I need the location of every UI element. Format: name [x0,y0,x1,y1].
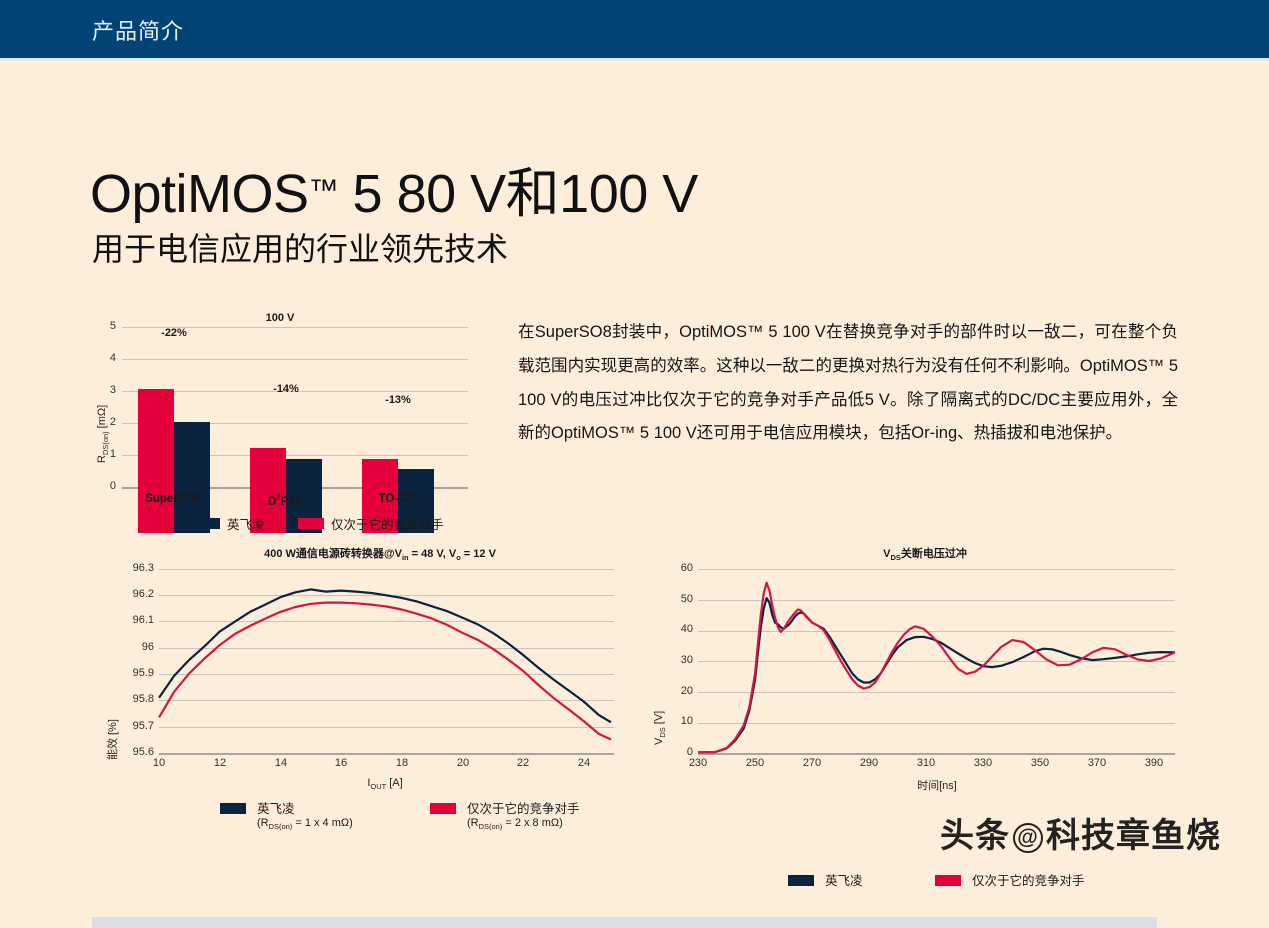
x-tick-label: 310 [906,757,946,769]
page-body: OptiMOS™ 5 80 V和100 V 用于电信应用的行业领先技术 100 … [0,61,1269,867]
bar-annotation-to220: -13% [358,394,438,406]
bar-competitor-superso8 [138,389,174,533]
legend-sublabel-infineon: (RDS(on) = 1 x 4 mΩ) [257,817,353,831]
legend-swatch-competitor [935,875,961,886]
watermark-at-icon: @ [1013,823,1043,853]
x-tick-label: 20 [443,757,483,769]
x-tick-label: 18 [382,757,422,769]
legend-swatch-infineon [194,518,220,529]
y-tick-label: 4 [90,352,116,364]
legend-swatch-competitor [298,518,324,529]
efficiency-plot [100,545,640,775]
y-tick-label: 3 [90,384,116,396]
x-tick-label: 12 [200,757,240,769]
bar-annotation-d2pak: -14% [246,383,326,395]
y-tick-label: 2 [90,416,116,428]
legend-label-competitor: 仅次于它的竞争对手 [467,798,580,817]
x-tick-label: 230 [678,757,718,769]
vds-plot [645,545,1205,775]
x-tick-label: 22 [503,757,543,769]
legend-label-infineon: 英飞凌 [227,514,265,533]
legend-label-competitor: 仅次于它的竞争对手 [331,514,444,533]
bar-category-d2pak: D2PAK [231,493,341,508]
x-tick-label: 350 [1020,757,1060,769]
page-title-brand: OptiMOS [90,164,309,224]
legend-swatch-infineon [788,875,814,886]
vds-x-axis-label: 时间[ns] [867,777,1007,793]
page-breadcrumb-title: 产品简介 [92,14,184,46]
y-tick-label: 5 [90,320,116,332]
page-subtitle: 用于电信应用的行业领先技术 [92,224,508,270]
y-tick-label: 1 [90,448,116,460]
x-tick-label: 390 [1134,757,1174,769]
bar-chart-title: 100 V [220,312,340,324]
legend-swatch-competitor [430,803,456,814]
intro-paragraph: 在SuperSO8封装中，OptiMOS™ 5 100 V在替换竞争对手的部件时… [518,316,1178,451]
x-tick-label: 14 [261,757,301,769]
watermark-prefix: 头条 [940,817,1010,855]
legend-label-competitor: 仅次于它的竞争对手 [972,870,1085,889]
bar-annotation-superso8: -22% [134,327,214,339]
trademark-symbol: ™ [309,174,339,207]
watermark: 头条@科技章鱼烧 [940,808,1221,857]
y-tick-label: 0 [90,480,116,492]
watermark-name: 科技章鱼烧 [1046,817,1221,855]
gridline [122,359,468,360]
bar-infineon-superso8 [174,422,210,533]
x-tick-label: 270 [792,757,832,769]
x-tick-label: 10 [139,757,179,769]
header-bar [0,0,1269,58]
x-tick-label: 290 [849,757,889,769]
rdson-bar-chart: 100 V RDS(on) [mΩ] 5 4 3 2 1 0 -22% Supe… [90,313,470,533]
footer-strip [92,917,1157,928]
legend-label-infineon: 英飞凌 [257,798,295,817]
x-tick-label: 250 [735,757,775,769]
bar-category-to220: TO-220 [343,493,453,505]
x-tick-label: 16 [321,757,361,769]
x-tick-label: 370 [1077,757,1117,769]
efficiency-x-axis-label: IOUT [A] [315,777,455,791]
x-tick-label: 24 [564,757,604,769]
efficiency-line-chart: 400 W通信电源砖转换器@Vin = 48 V, Vo = 12 V 能效 [… [100,545,640,865]
legend-sublabel-competitor: (RDS(on) = 2 x 8 mΩ) [467,817,563,831]
page-title-rest: 5 80 V和100 V [338,164,698,224]
legend-label-infineon: 英飞凌 [825,870,863,889]
bar-category-superso8: SuperSO8 [118,493,228,505]
x-tick-label: 330 [963,757,1003,769]
legend-swatch-infineon [220,803,246,814]
page-title: OptiMOS™ 5 80 V和100 V [90,149,698,228]
